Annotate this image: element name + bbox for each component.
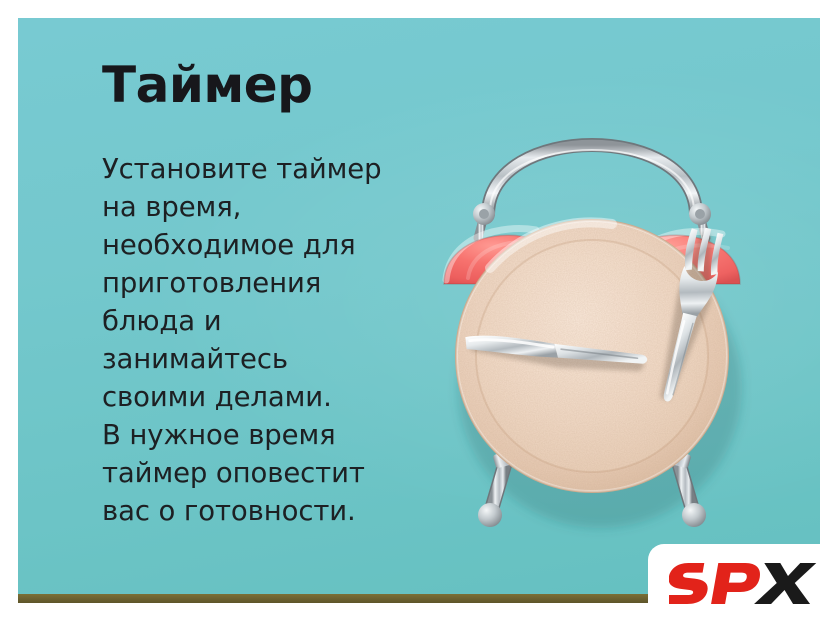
text-block: Таймер Установите таймер на время, необх… [102, 58, 422, 530]
alarm-clock-illustration [432, 88, 752, 568]
spx-logo [669, 559, 819, 607]
spx-logo-panel[interactable] [648, 544, 840, 621]
page-title: Таймер [102, 58, 422, 112]
slide-canvas: Таймер Установите таймер на время, необх… [0, 0, 840, 621]
page-body-text: Установите таймер на время, необходимое … [102, 112, 422, 530]
clock-handle [488, 145, 696, 214]
